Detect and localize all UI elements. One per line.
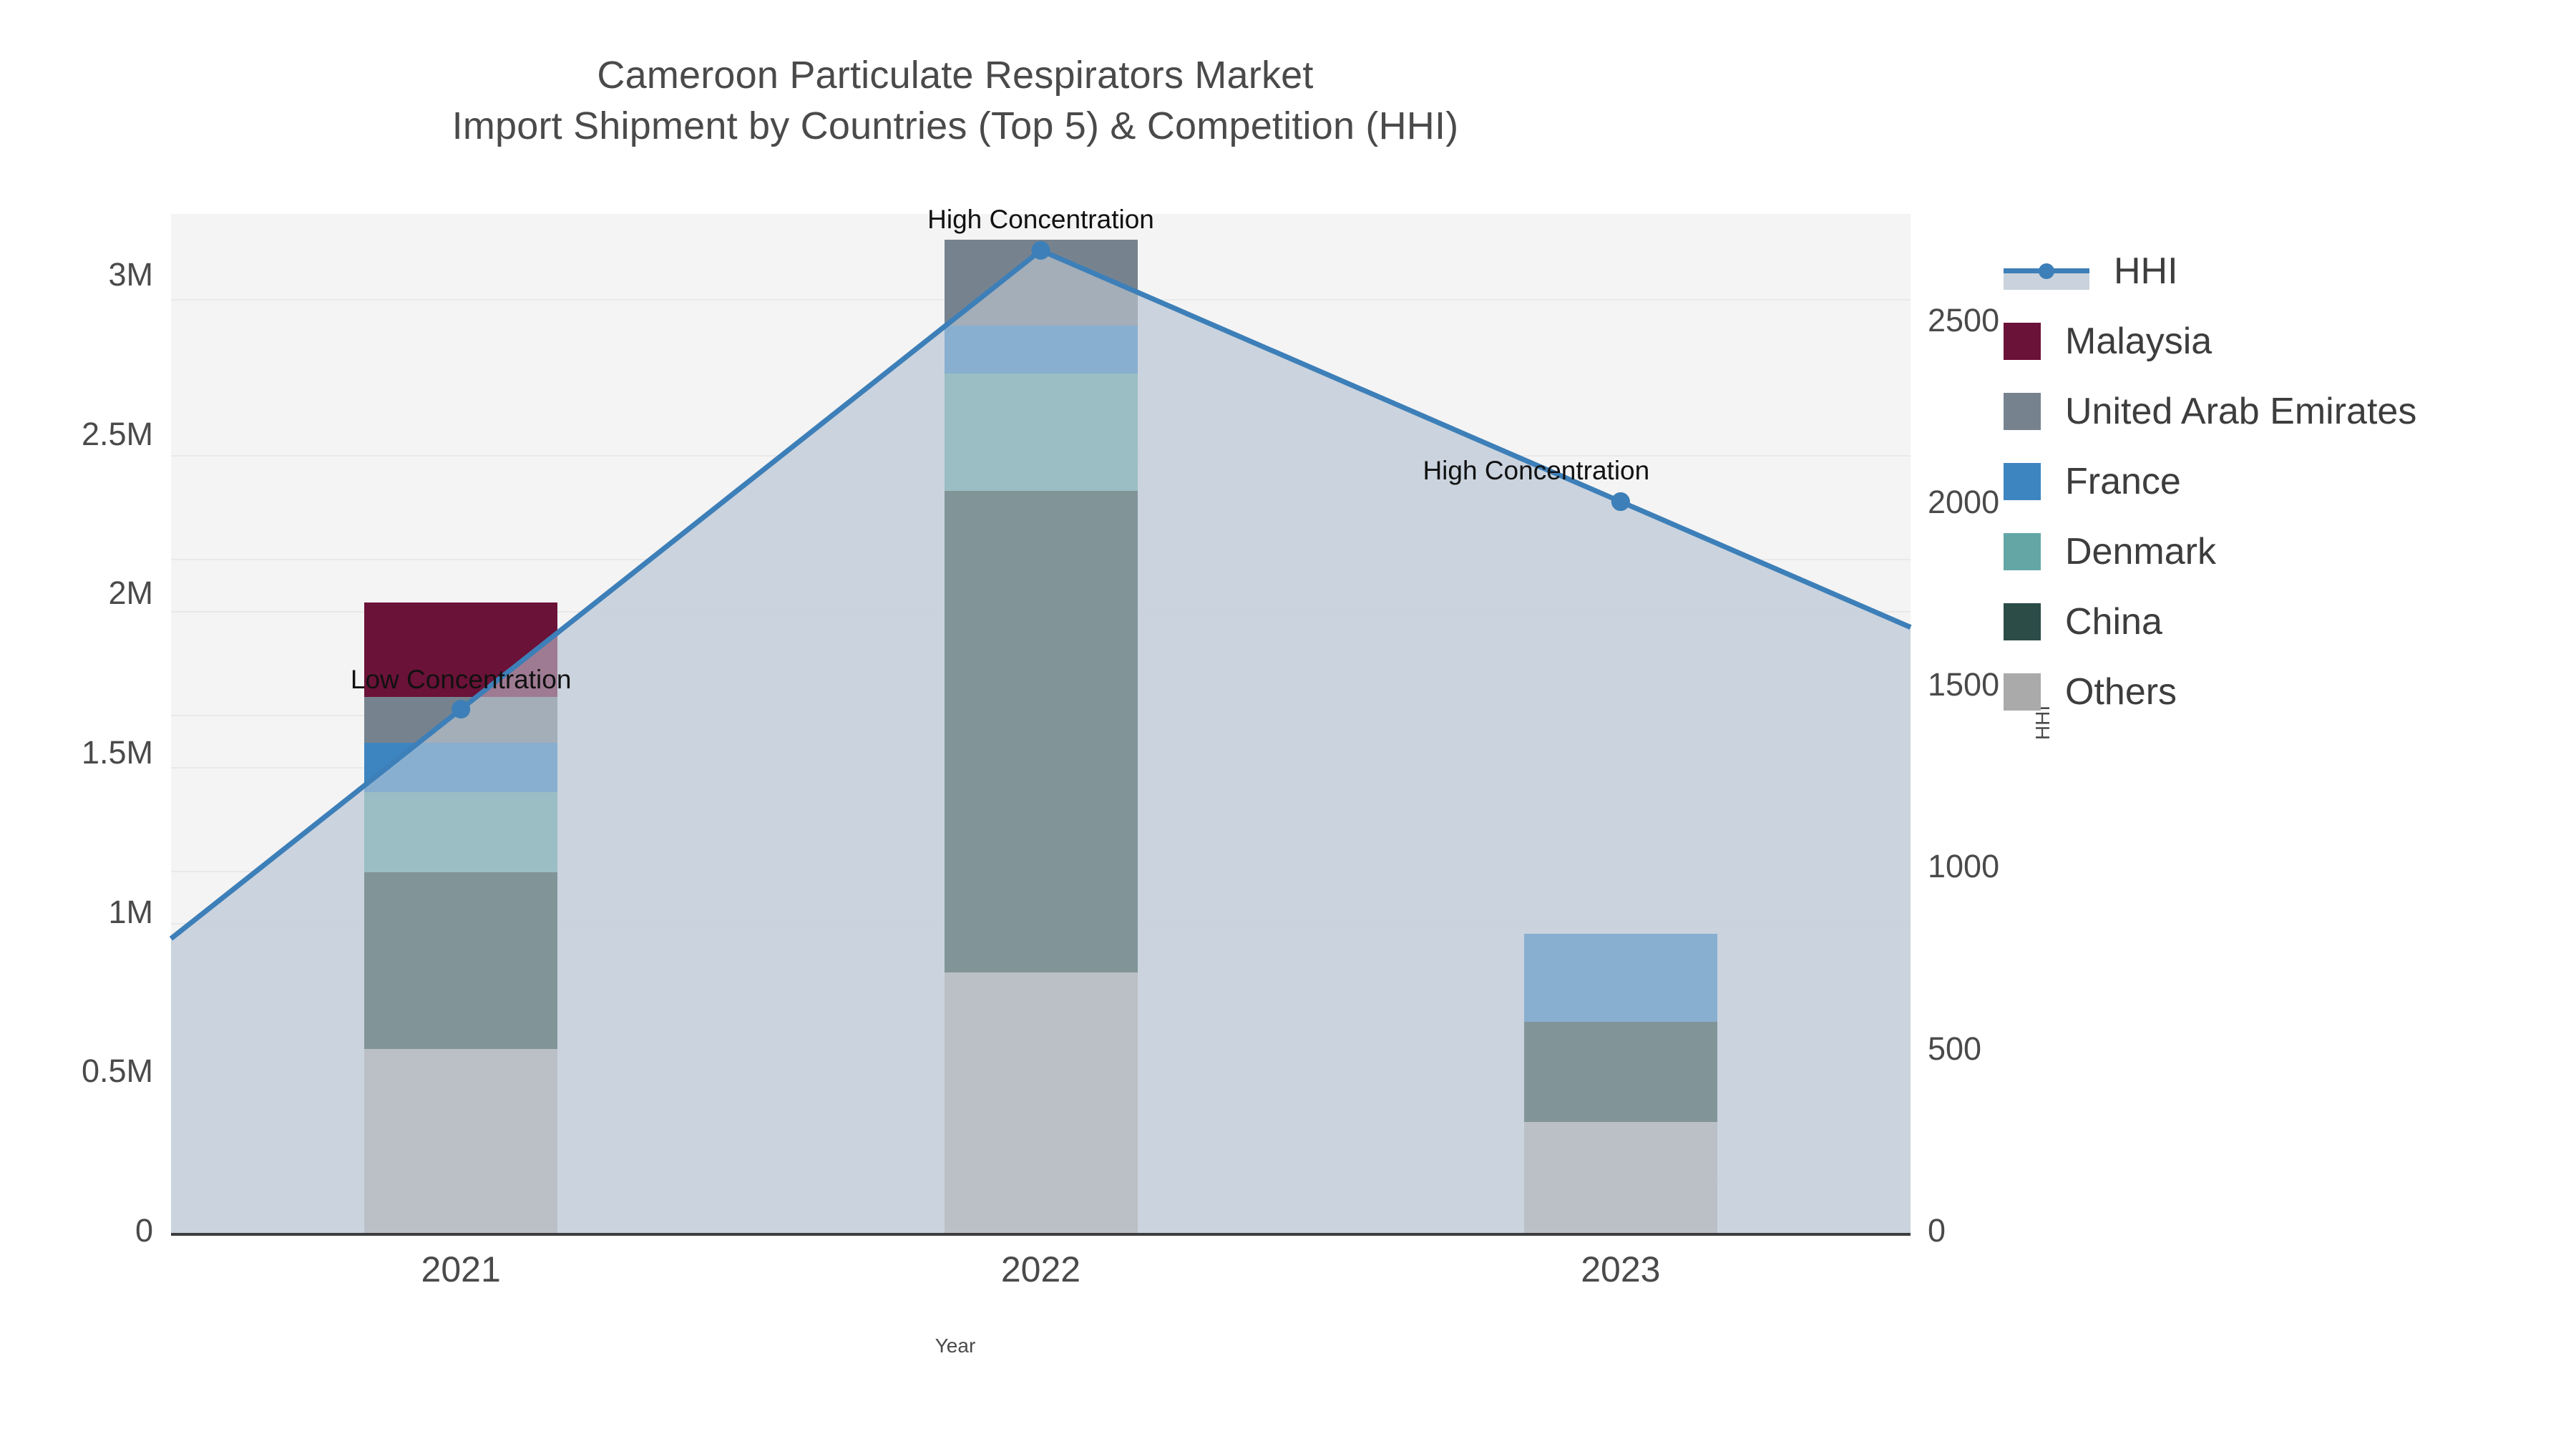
legend-item-label: Others [2065,670,2177,713]
hhi-annotation: High Concentration [927,205,1154,235]
legend-line-dot [2039,263,2054,279]
y2-axis-tick-label: 0 [1928,1212,2114,1249]
legend: HHIMalaysiaUnited Arab EmiratesFranceDen… [2004,236,2562,727]
chart-title: Cameroon Particulate Respirators Market … [0,50,1911,152]
bar-segment[interactable] [364,697,557,743]
legend-item[interactable]: HHI [2004,236,2562,306]
y-axis-tick-label: 1M [10,894,153,931]
chart-canvas: Cameroon Particulate Respirators Market … [0,0,2576,1449]
legend-item-label: China [2065,600,2162,643]
chart-title-line2: Import Shipment by Countries (Top 5) & C… [0,101,1911,152]
x-axis-title: Year [0,1335,1911,1357]
x-axis-line [171,1233,1911,1236]
chart-title-line1: Cameroon Particulate Respirators Market [597,54,1313,97]
bar-segment[interactable] [364,872,557,1049]
bar-segment[interactable] [945,326,1138,374]
bar-segment[interactable] [364,792,557,872]
bar-segment[interactable] [364,1049,557,1234]
y-axis-tick-label: 0.5M [10,1053,153,1090]
bar-segment[interactable] [1524,934,1717,1021]
bar-segment[interactable] [1524,1122,1717,1234]
legend-item-label: Malaysia [2065,320,2212,363]
legend-item-label: Denmark [2065,530,2216,573]
hhi-annotation: High Concentration [1423,456,1649,486]
bar-segment[interactable] [945,491,1138,972]
legend-item[interactable]: Others [2004,657,2562,727]
legend-item-label: HHI [2114,250,2178,293]
x-axis-tick-label: 2021 [353,1249,568,1290]
y-axis-tick-label: 0 [10,1212,153,1249]
hhi-annotation: Low Concentration [351,665,572,695]
bar-segment[interactable] [364,743,557,792]
legend-item[interactable]: Malaysia [2004,306,2562,376]
bar-segment[interactable] [945,240,1138,326]
legend-swatch [2004,673,2041,711]
legend-item[interactable]: United Arab Emirates [2004,376,2562,447]
legend-swatch [2004,533,2041,570]
y2-axis-tick-label: 1000 [1928,848,2114,885]
legend-item-label: France [2065,460,2181,503]
legend-item[interactable]: Denmark [2004,517,2562,587]
legend-item[interactable]: China [2004,587,2562,657]
legend-item[interactable]: France [2004,447,2562,517]
x-axis-tick-label: 2023 [1513,1249,1728,1290]
legend-swatch [2004,603,2041,640]
y-axis-tick-label: 2M [10,575,153,612]
x-axis-tick-label: 2022 [934,1249,1148,1290]
legend-swatch [2004,323,2041,360]
legend-item-label: United Arab Emirates [2065,390,2416,433]
bar-segment[interactable] [1524,1022,1717,1122]
legend-swatch [2004,393,2041,430]
legend-line-marker [2004,253,2089,290]
y2-axis-tick-label: 500 [1928,1030,2114,1068]
y-axis-tick-label: 2.5M [10,416,153,453]
bar-segment[interactable] [945,374,1138,492]
legend-swatch [2004,463,2041,500]
y-axis-tick-label: 3M [10,256,153,293]
y-axis-tick-label: 1.5M [10,734,153,771]
bar-segment[interactable] [945,972,1138,1234]
